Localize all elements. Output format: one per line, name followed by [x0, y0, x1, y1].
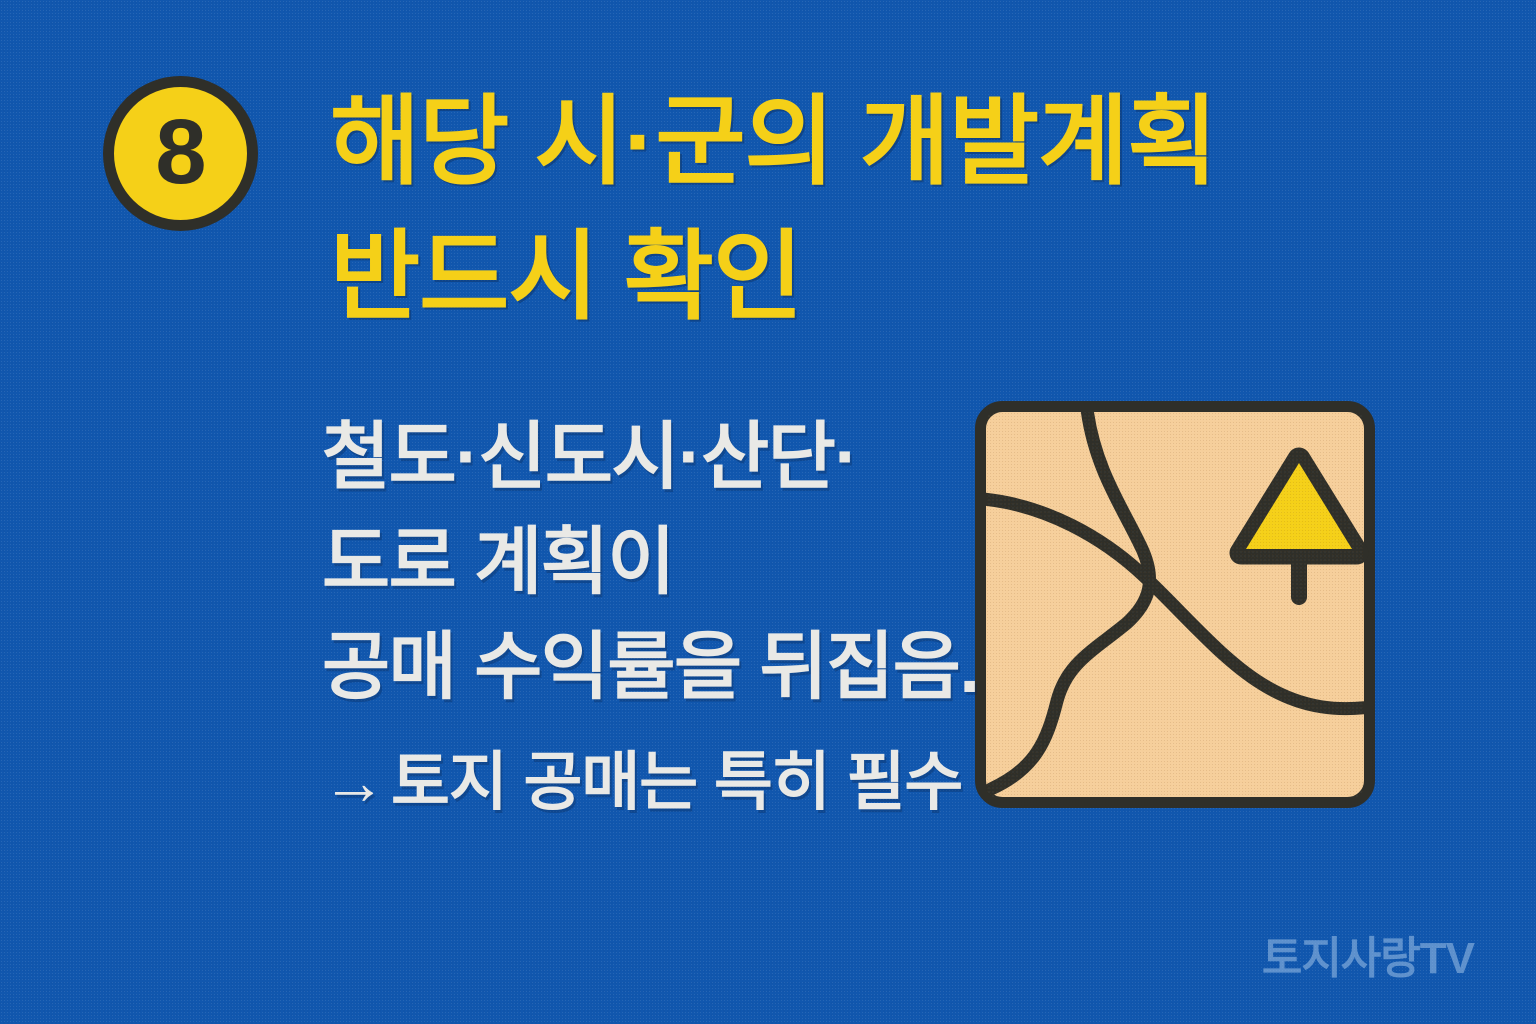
arrow-right-icon: → [322, 746, 385, 818]
body-conclusion-text: 토지 공매는 특히 필수 [391, 746, 962, 818]
step-number-label: 8 [155, 106, 205, 198]
body-line-2: 도로 계획이 [322, 509, 1002, 614]
map-card-svg [975, 401, 1375, 808]
channel-watermark: 토지사랑TV [1262, 922, 1474, 986]
body-text-block: 철도·신도시·산단· 도로 계획이 공매 수익률을 뒤집음. →토지 공매는 특… [322, 404, 1002, 828]
headline-line-1: 해당 시·군의 개발계획 [330, 74, 1410, 209]
headline-line-2: 반드시 확인 [330, 209, 1410, 344]
slide-canvas: 8 해당 시·군의 개발계획 반드시 확인 철도·신도시·산단· 도로 계획이 … [0, 0, 1536, 1024]
body-conclusion-line: →토지 공매는 특히 필수 [322, 737, 1002, 828]
body-line-1: 철도·신도시·산단· [322, 404, 1002, 509]
page-title: 해당 시·군의 개발계획 반드시 확인 [330, 74, 1410, 344]
body-line-3: 공매 수익률을 뒤집음. [322, 614, 1002, 719]
map-card-illustration [975, 401, 1375, 808]
step-number-badge: 8 [103, 76, 258, 231]
